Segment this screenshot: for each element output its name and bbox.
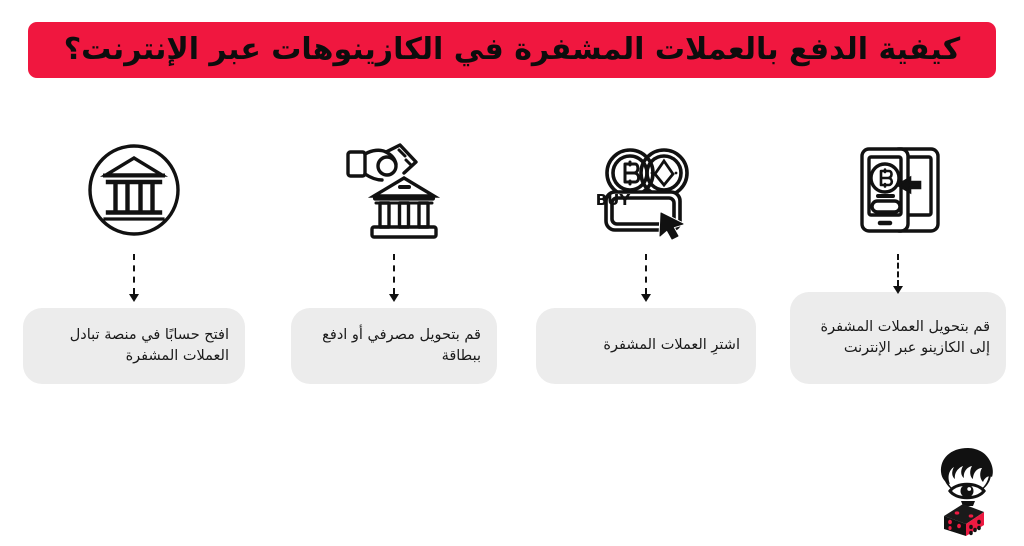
bank-building-circle-icon — [86, 142, 182, 238]
step-2-connector — [387, 254, 401, 308]
step-3-connector — [639, 254, 653, 308]
step-4: قم بتحويل العملات المشفرة إلى الكازينو ع… — [772, 108, 1024, 408]
page-title: كيفية الدفع بالعملات المشفرة في الكازينو… — [64, 34, 960, 66]
step-3-card: اشترِ العملات المشفرة — [536, 308, 756, 384]
arrow-head-icon — [893, 286, 903, 294]
step-4-card: قم بتحويل العملات المشفرة إلى الكازينو ع… — [790, 292, 1006, 384]
dice-icon — [944, 504, 984, 536]
step-2-icon-wrap — [342, 130, 446, 250]
step-1-caption: افتح حسابًا في منصة تبادل العملات المشفر… — [37, 325, 229, 367]
dashed-line — [133, 254, 135, 294]
step-4-caption: قم بتحويل العملات المشفرة إلى الكازينو ع… — [804, 317, 990, 359]
steps-row: افتح حسابًا في منصة تبادل العملات المشفر… — [0, 108, 1024, 408]
page-title-banner: كيفية الدفع بالعملات المشفرة في الكازينو… — [28, 22, 996, 78]
step-3-caption: اشترِ العملات المشفرة — [603, 335, 740, 356]
phone-to-phone-bitcoin-transfer-icon — [848, 140, 948, 240]
step-2-caption: قم بتحويل مصرفي أو ادفع ببطاقة — [305, 325, 481, 367]
step-2-card: قم بتحويل مصرفي أو ادفع ببطاقة — [291, 308, 497, 384]
dashed-line — [645, 254, 647, 294]
step-1-card: افتح حسابًا في منصة تبادل العملات المشفر… — [23, 308, 245, 384]
buy-label: BUY — [596, 191, 630, 209]
arrow-head-icon — [641, 294, 651, 302]
arrow-head-icon — [389, 294, 399, 302]
step-1-icon-wrap — [86, 130, 182, 250]
dashed-line — [897, 254, 899, 286]
step-3: BUY اشترِ العملات المشفرة — [520, 108, 772, 408]
arrow-head-icon — [129, 294, 139, 302]
step-2: قم بتحويل مصرفي أو ادفع ببطاقة — [268, 108, 520, 408]
crypto-buy-button-cursor-icon — [594, 140, 698, 240]
hand-coin-bank-deposit-icon — [342, 140, 446, 240]
turban-eye-dice-logo — [930, 444, 1006, 536]
step-3-icon-wrap: BUY — [594, 130, 698, 250]
dashed-line — [393, 254, 395, 294]
step-1: افتح حسابًا في منصة تبادل العملات المشفر… — [0, 108, 268, 408]
step-1-connector — [127, 254, 141, 308]
step-4-connector — [891, 254, 905, 300]
step-4-icon-wrap — [848, 130, 948, 250]
